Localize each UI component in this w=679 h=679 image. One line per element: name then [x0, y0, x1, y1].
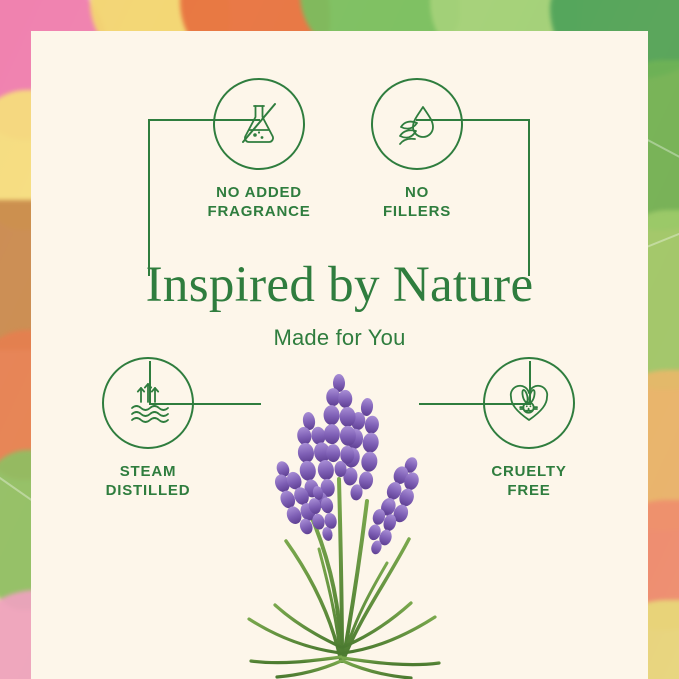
- badge-label: NO FILLERS: [332, 184, 502, 222]
- leaf-droplet-icon: [391, 98, 443, 150]
- badge-circle: [102, 357, 194, 449]
- rabbit-heart-icon: [502, 376, 556, 430]
- badge-no-added-fragrance: NO ADDED FRAGRANCE: [174, 78, 344, 222]
- badge-circle: [371, 78, 463, 170]
- badge-label: NO ADDED FRAGRANCE: [174, 184, 344, 222]
- infographic-image: NO ADDED FRAGRANCE NO FILLERS: [0, 0, 679, 679]
- flask-crossed-out-icon: [233, 98, 285, 150]
- page-title: Inspired by Nature: [31, 260, 648, 311]
- content-card: NO ADDED FRAGRANCE NO FILLERS: [31, 31, 648, 679]
- steam-waves-icon: [121, 376, 175, 430]
- page-subtitle: Made for You: [31, 325, 648, 351]
- badge-no-fillers: NO FILLERS: [332, 78, 502, 222]
- badge-circle: [213, 78, 305, 170]
- lavender-illustration: [191, 361, 501, 679]
